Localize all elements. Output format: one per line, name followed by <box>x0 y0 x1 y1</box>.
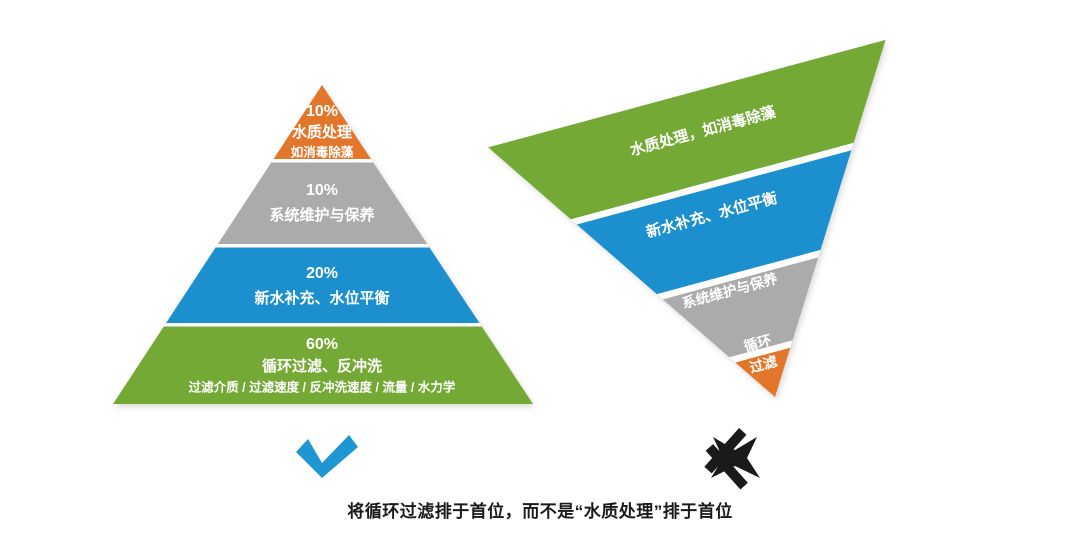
pyramid-level-3-percent: 20% <box>306 265 338 282</box>
diagram-svg: 10% 水质处理 如消毒除藻 10% 系统维护与保养 20% 新水补充、水位平衡… <box>0 0 1080 539</box>
pyramid-level-3-main: 新水补充、水位平衡 <box>254 289 389 307</box>
pyramid-divider-1 <box>100 159 550 163</box>
pyramid-level-1-sub: 如消毒除藻 <box>291 144 354 159</box>
pyramid-divider-3 <box>100 323 550 327</box>
check-mark-icon <box>296 435 358 478</box>
diagram-canvas: 10% 水质处理 如消毒除藻 10% 系统维护与保养 20% 新水补充、水位平衡… <box>0 0 1080 539</box>
wrong-inverted-pyramid: 水质处理，如消毒除藻 新水补充、水位平衡 系统维护与保养 循环 过滤 <box>460 36 1010 489</box>
pyramid-band-gray <box>100 162 550 247</box>
diagram-caption: 将循环过滤排于首位，而不是“水质处理”排于首位 <box>0 497 1080 522</box>
pyramid-level-1-percent: 10% <box>306 103 338 120</box>
pyramid-level-4-detail: 过滤介质 / 过滤速度 / 反冲洗速度 / 流量 / 水力学 <box>189 379 456 394</box>
pyramid-level-4-main: 循环过滤、反冲洗 <box>262 357 382 375</box>
correct-pyramid: 10% 水质处理 如消毒除藻 10% 系统维护与保养 20% 新水补充、水位平衡… <box>100 80 550 408</box>
pyramid-level-4-percent: 60% <box>306 336 338 353</box>
cross-mark-icon <box>704 428 760 489</box>
pyramid-band-blue <box>100 247 550 326</box>
pyramid-divider-2 <box>100 244 550 248</box>
pyramid-level-2-percent: 10% <box>306 182 338 199</box>
pyramid-level-2-main: 系统维护与保养 <box>269 206 375 224</box>
pyramid-level-1-main: 水质处理 <box>292 123 352 141</box>
